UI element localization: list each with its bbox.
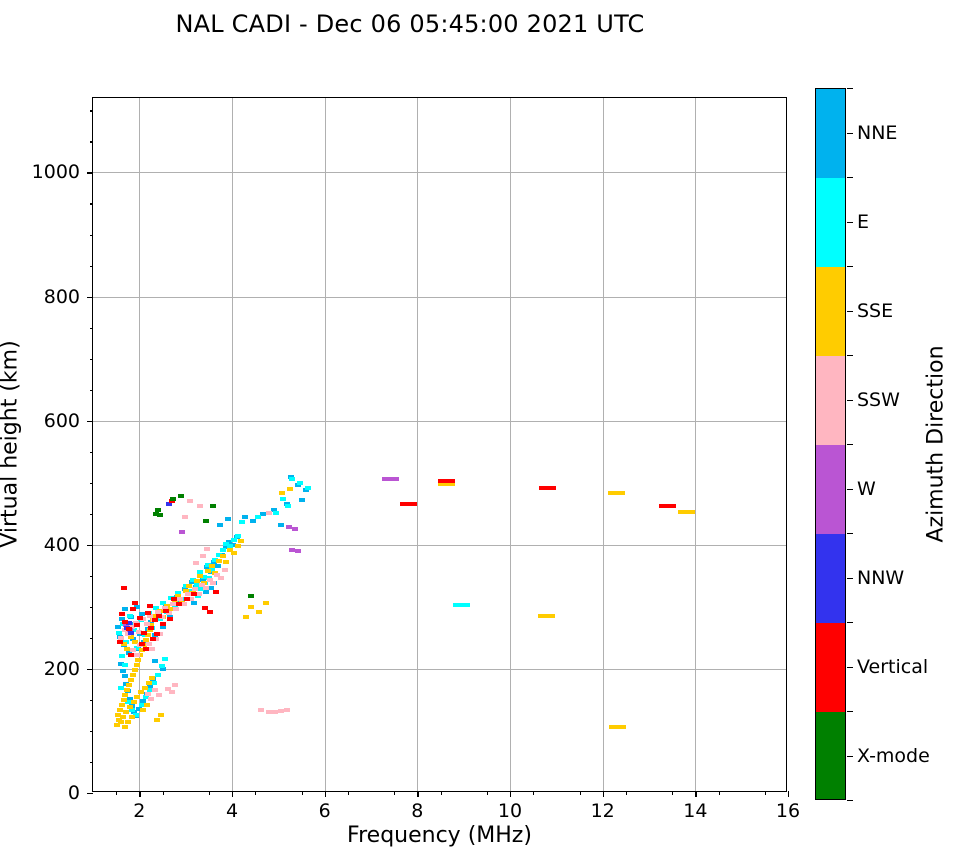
data-point-ssw (177, 597, 183, 601)
data-point-sse (263, 601, 269, 605)
x-minor-tick (533, 791, 534, 795)
x-tick-label: 14 (683, 800, 707, 822)
data-point-sse (197, 574, 203, 578)
data-point-x-mode (248, 594, 254, 598)
y-tick (87, 421, 93, 422)
data-point-e (122, 663, 128, 667)
x-tick (788, 791, 789, 797)
y-minor-tick (90, 235, 94, 236)
colorbar-boundary-tick (847, 800, 853, 801)
y-minor-tick (90, 110, 94, 111)
data-point-x-mode (178, 494, 184, 498)
y-tick-label: 800 (44, 286, 80, 308)
data-point-nne (122, 674, 128, 678)
colorbar-label-e: E (857, 211, 869, 233)
data-point-ssw (266, 511, 272, 515)
x-tick (232, 791, 233, 797)
colorbar-label-x-mode: X-mode (857, 745, 930, 767)
data-point-sse (243, 615, 249, 619)
data-point-x-mode (203, 519, 209, 523)
colorbar-boundary-tick (847, 88, 853, 89)
colorbar-label-sse: SSE (857, 300, 893, 322)
data-point-sse (144, 703, 150, 707)
data-point-sse (238, 539, 244, 543)
colorbar-label-w: W (857, 478, 876, 500)
data-point-sse (131, 700, 137, 704)
colorbar-boundary-tick (847, 622, 853, 623)
data-point-w (179, 530, 185, 534)
data-point-nnw (128, 631, 134, 635)
x-tick-label: 16 (776, 800, 800, 822)
x-axis-label: Frequency (MHz) (92, 823, 787, 848)
data-point-ssw (134, 653, 140, 657)
data-point-sse (287, 487, 293, 491)
colorbar-segment-sse (816, 267, 845, 356)
data-point-ssw (193, 561, 199, 565)
data-point-vertical (148, 626, 154, 630)
colorbar-label-nnw: NNW (857, 567, 904, 589)
data-point-vertical (143, 647, 149, 651)
y-tick (87, 669, 93, 670)
data-point-nne (215, 564, 221, 568)
data-point-ssw (145, 692, 151, 696)
data-point-vertical (128, 653, 134, 657)
data-point-e (151, 681, 157, 685)
data-point-e (285, 504, 291, 508)
y-minor-tick (90, 638, 94, 639)
data-point-ssw (187, 499, 193, 503)
data-point-w (286, 525, 292, 529)
data-point-vertical (121, 586, 127, 590)
colorbar-tick (847, 400, 853, 401)
data-point-sse (118, 720, 124, 724)
data-point-sse (279, 491, 285, 495)
data-point-e (119, 654, 125, 658)
data-point-vertical (134, 623, 140, 627)
data-point-sse (608, 491, 625, 495)
data-point-sse (127, 705, 133, 709)
colorbar-segment-x-mode (816, 712, 845, 800)
data-point-sse (138, 690, 144, 694)
gridline-vertical (325, 98, 326, 791)
data-point-e (273, 511, 279, 515)
y-tick-label: 0 (68, 782, 80, 804)
y-minor-tick (90, 390, 94, 391)
colorbar-segment-e (816, 178, 845, 267)
x-tick (510, 791, 511, 797)
colorbar (815, 88, 846, 800)
page-title: NAL CADI - Dec 06 05:45:00 2021 UTC (0, 10, 820, 38)
data-point-sse (231, 551, 237, 555)
data-point-sse (135, 658, 141, 662)
y-minor-tick (90, 576, 94, 577)
data-point-ssw (185, 592, 191, 596)
gridline-vertical (139, 98, 140, 791)
y-tick (87, 545, 93, 546)
colorbar-label-nne: NNE (857, 122, 897, 144)
data-point-e (255, 515, 261, 519)
data-point-nne (191, 601, 197, 605)
data-point-e (235, 534, 241, 538)
data-point-sse (129, 715, 135, 719)
data-point-nne (250, 519, 256, 523)
colorbar-tick (847, 578, 853, 579)
data-point-nne (242, 515, 248, 519)
y-minor-tick (90, 203, 94, 204)
data-point-ssw (146, 642, 152, 646)
data-point-ssw (258, 708, 264, 712)
data-point-vertical (117, 640, 123, 644)
data-point-sse (223, 560, 229, 564)
colorbar-tick (847, 311, 853, 312)
data-point-vertical (163, 609, 169, 613)
colorbar-segment-nne (816, 89, 845, 178)
colorbar-tick (847, 756, 853, 757)
y-axis-label: Virtual height (km) (0, 340, 23, 547)
gridline-horizontal (93, 421, 786, 422)
data-point-vertical (400, 502, 417, 506)
data-point-ssw (197, 504, 203, 508)
x-minor-tick (487, 791, 488, 795)
data-point-vertical (176, 602, 182, 606)
data-point-vertical (119, 612, 125, 616)
data-point-sse (609, 725, 626, 729)
data-point-x-mode (210, 504, 216, 508)
data-point-ssw (152, 688, 158, 692)
y-minor-tick (90, 607, 94, 608)
colorbar-tick (847, 489, 853, 490)
data-point-sse (126, 683, 132, 687)
data-point-e (162, 657, 168, 661)
data-point-e (159, 664, 165, 668)
x-tick (603, 791, 604, 797)
x-minor-tick (163, 791, 164, 795)
data-point-e (118, 686, 124, 690)
colorbar-boundary-tick (847, 711, 853, 712)
data-point-nne (299, 498, 305, 502)
colorbar-tick (847, 133, 853, 134)
data-point-ssw (148, 697, 154, 701)
data-point-sse (142, 686, 148, 690)
gridline-vertical (232, 98, 233, 791)
data-point-vertical (122, 620, 128, 624)
data-point-sse (125, 720, 131, 724)
data-point-sse (220, 554, 226, 558)
y-minor-tick (90, 514, 94, 515)
data-point-sse (119, 703, 125, 707)
data-point-sse (216, 559, 222, 563)
colorbar-segment-vertical (816, 623, 845, 712)
data-point-sse (120, 715, 126, 719)
data-point-ssw (156, 693, 162, 697)
gridline-vertical (603, 98, 604, 791)
data-point-vertical (150, 637, 156, 641)
colorbar-label-vertical: Vertical (857, 656, 928, 678)
data-point-vertical (126, 627, 132, 631)
data-point-nne (122, 607, 128, 611)
gridline-horizontal (93, 172, 786, 173)
x-tick-label: 6 (319, 800, 331, 822)
data-point-sse (117, 708, 123, 712)
data-point-ssw (170, 602, 176, 606)
data-point-vertical (539, 486, 556, 490)
x-tick-label: 8 (411, 800, 423, 822)
data-point-e (280, 497, 286, 501)
data-point-vertical (156, 614, 162, 618)
data-point-vertical (154, 632, 160, 636)
data-point-sse (538, 614, 555, 618)
data-point-nne (217, 523, 223, 527)
gridline-horizontal (93, 669, 786, 670)
figure-root: NAL CADI - Dec 06 05:45:00 2021 UTC 2468… (0, 0, 958, 857)
x-tick (417, 791, 418, 797)
x-tick (139, 791, 140, 797)
data-point-e (231, 538, 237, 542)
data-point-ssw (172, 683, 178, 687)
data-point-e (305, 486, 311, 490)
data-point-ssw (218, 576, 224, 580)
data-point-sse (149, 676, 155, 680)
y-minor-tick (90, 483, 94, 484)
data-point-sse (205, 569, 211, 573)
data-point-ssw (130, 648, 136, 652)
data-point-sse (124, 688, 130, 692)
data-point-x-mode (170, 497, 176, 501)
colorbar-segment-nnw (816, 534, 845, 623)
data-point-sse (146, 681, 152, 685)
data-point-vertical (139, 642, 145, 646)
data-point-ssw (222, 568, 228, 572)
data-point-vertical (152, 618, 158, 622)
data-point-ssw (192, 587, 198, 591)
x-minor-tick (394, 791, 395, 795)
data-point-sse (128, 678, 134, 682)
y-minor-tick (90, 700, 94, 701)
data-point-vertical (147, 604, 153, 608)
data-point-w (382, 477, 399, 481)
data-point-sse (158, 713, 164, 717)
colorbar-boundary-tick (847, 355, 853, 356)
x-tick-label: 12 (591, 800, 615, 822)
y-tick-label: 1000 (32, 161, 80, 183)
colorbar-axis-label: Azimuth Direction (924, 345, 949, 542)
data-point-vertical (145, 611, 151, 615)
x-minor-tick (441, 791, 442, 795)
data-point-ssw (272, 710, 278, 714)
gridline-vertical (695, 98, 696, 791)
data-point-nne (152, 659, 158, 663)
x-minor-tick (580, 791, 581, 795)
data-point-ssw (284, 708, 290, 712)
data-point-sse (235, 544, 241, 548)
y-tick-label: 400 (44, 534, 80, 556)
data-point-vertical (141, 631, 147, 635)
x-tick-label: 2 (133, 800, 145, 822)
data-point-sse (132, 668, 138, 672)
data-point-sse (134, 695, 140, 699)
data-point-vertical (213, 590, 219, 594)
data-point-sse (256, 610, 262, 614)
data-point-sse (123, 710, 129, 714)
colorbar-label-ssw: SSW (857, 389, 900, 411)
colorbar-segment-w (816, 445, 845, 534)
y-minor-tick (90, 359, 94, 360)
x-minor-tick (209, 791, 210, 795)
data-point-sse (122, 693, 128, 697)
data-point-nne (225, 517, 231, 521)
plot-area: 24681012141602004006008001000 (92, 97, 787, 792)
data-point-ssw (204, 547, 210, 551)
data-point-vertical (130, 607, 136, 611)
data-point-vertical (137, 616, 143, 620)
data-point-e (155, 673, 161, 677)
data-point-vertical (184, 597, 190, 601)
data-point-nne (120, 669, 126, 673)
data-point-ssw (200, 554, 206, 558)
data-point-ssw (203, 586, 209, 590)
x-minor-tick (116, 791, 117, 795)
colorbar-boundary-tick (847, 177, 853, 178)
colorbar-boundary-tick (847, 533, 853, 534)
data-point-sse (134, 663, 140, 667)
data-point-vertical (191, 592, 197, 596)
x-minor-tick (255, 791, 256, 795)
data-point-w (292, 527, 298, 531)
data-point-sse (209, 564, 215, 568)
gridline-horizontal (93, 297, 786, 298)
y-tick (87, 793, 93, 794)
x-tick (325, 791, 326, 797)
y-tick (87, 172, 93, 173)
x-minor-tick (765, 791, 766, 795)
y-minor-tick (90, 731, 94, 732)
y-tick (87, 297, 93, 298)
data-point-vertical (171, 597, 177, 601)
y-minor-tick (90, 328, 94, 329)
colorbar-tick (847, 222, 853, 223)
x-tick-label: 10 (498, 800, 522, 822)
gridline-vertical (510, 98, 511, 791)
x-minor-tick (719, 791, 720, 795)
data-point-sse (140, 708, 146, 712)
data-point-vertical (132, 601, 138, 605)
x-tick-label: 4 (226, 800, 238, 822)
data-point-e (239, 520, 245, 524)
data-point-vertical (160, 622, 166, 626)
x-minor-tick (348, 791, 349, 795)
gridline-vertical (417, 98, 418, 791)
data-point-e (289, 477, 295, 481)
data-point-sse (122, 725, 128, 729)
x-minor-tick (302, 791, 303, 795)
data-point-ssw (182, 515, 188, 519)
y-minor-tick (90, 452, 94, 453)
y-tick-label: 600 (44, 410, 80, 432)
y-minor-tick (90, 266, 94, 267)
data-point-e (297, 481, 303, 485)
data-point-ssw (149, 647, 155, 651)
gridline-horizontal (93, 545, 786, 546)
colorbar-tick (847, 667, 853, 668)
y-minor-tick (90, 762, 94, 763)
data-point-e (453, 603, 470, 607)
data-point-ssw (173, 607, 179, 611)
data-point-sse (678, 510, 695, 514)
y-minor-tick (90, 141, 94, 142)
data-point-ssw (169, 690, 175, 694)
data-point-vertical (659, 504, 676, 508)
data-point-nne (278, 523, 284, 527)
y-tick-label: 200 (44, 658, 80, 680)
x-minor-tick (626, 791, 627, 795)
x-minor-tick (672, 791, 673, 795)
data-point-e (220, 548, 226, 552)
colorbar-boundary-tick (847, 444, 853, 445)
data-point-e (127, 614, 133, 618)
data-point-sse (248, 605, 254, 609)
data-point-sse (130, 673, 136, 677)
data-point-sse (154, 718, 160, 722)
data-point-x-mode (157, 513, 163, 517)
colorbar-segment-ssw (816, 356, 845, 445)
colorbar-boundary-tick (847, 266, 853, 267)
x-tick (695, 791, 696, 797)
data-point-vertical (167, 617, 173, 621)
data-point-vertical (207, 610, 213, 614)
data-point-ssw (210, 581, 216, 585)
data-point-vertical (438, 479, 455, 483)
data-point-sse (121, 698, 127, 702)
data-point-w (295, 549, 301, 553)
